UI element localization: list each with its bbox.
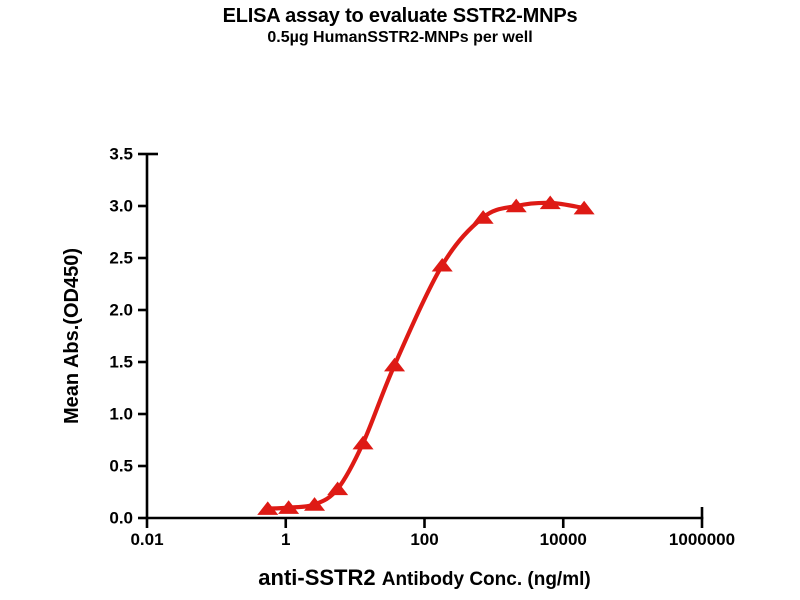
x-axis-title-primary: anti-SSTR2: [258, 565, 381, 590]
chart-page: ELISA assay to evaluate SSTR2-MNPs 0.5µg…: [0, 0, 800, 600]
elisa-dose-response-chart: 0.00.51.01.52.02.53.03.50.01110010000100…: [0, 0, 800, 600]
x-tick-label: 100: [410, 530, 438, 549]
x-tick-label: 1000000: [669, 530, 735, 549]
data-point-marker: [433, 259, 452, 271]
x-axis-title: anti-SSTR2 Antibody Conc. (ng/ml): [258, 565, 590, 590]
y-tick-label: 3.5: [109, 144, 133, 163]
x-tick-label: 1: [281, 530, 290, 549]
y-tick-label: 0.0: [109, 508, 133, 527]
plot-area: 0.00.51.01.52.02.53.03.50.01110010000100…: [0, 0, 800, 600]
y-tick-label: 1.5: [109, 352, 133, 371]
data-point-marker: [354, 437, 373, 449]
y-tick-label: 1.0: [109, 404, 133, 423]
axes-layer: [138, 154, 703, 528]
x-tick-label: 0.01: [130, 530, 163, 549]
y-tick-label: 0.5: [109, 456, 133, 475]
y-tick-label: 3.0: [109, 196, 133, 215]
data-point-marker: [385, 359, 404, 371]
y-axis-title: Mean Abs.(OD450): [61, 248, 83, 424]
y-tick-label: 2.5: [109, 248, 133, 267]
data-series-layer: [258, 196, 593, 514]
x-axis-title-secondary: Antibody Conc. (ng/ml): [382, 569, 591, 590]
y-tick-label: 2.0: [109, 300, 133, 319]
fitted-curve: [268, 203, 584, 509]
x-tick-label: 10000: [540, 530, 587, 549]
data-point-marker: [328, 482, 347, 494]
